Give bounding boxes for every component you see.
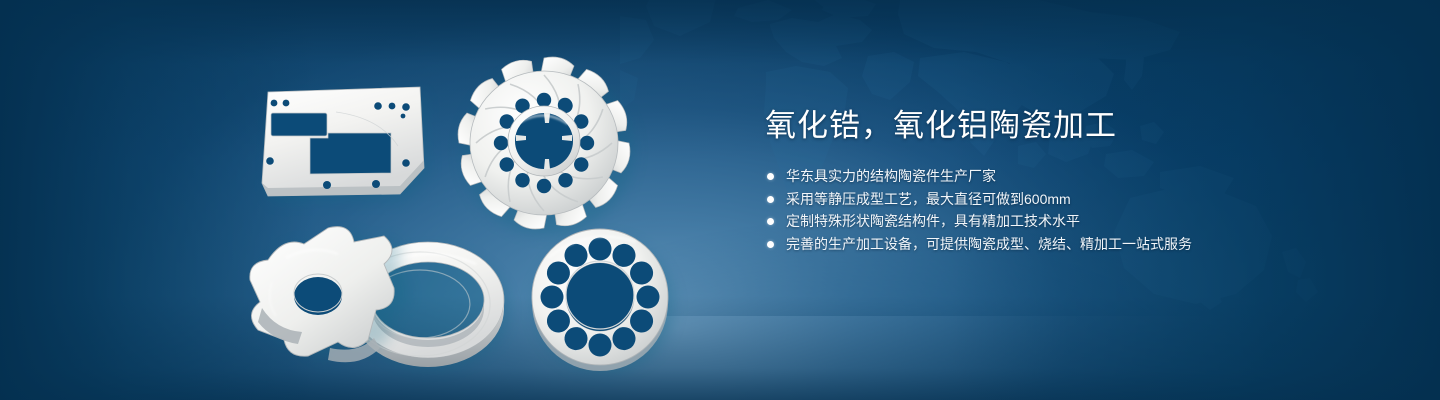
feature-item-1-label: 华东具实力的结构陶瓷件生产厂家 <box>786 168 996 184</box>
promo-banner: 氧化锆，氧化铝陶瓷加工 华东具实力的结构陶瓷件生产厂家 采用等静压成型工艺，最大… <box>0 0 1440 400</box>
feature-item-3-label: 定制特殊形状陶瓷结构件，具有精加工技术水平 <box>786 213 1080 229</box>
feature-item-1: 华东具实力的结构陶瓷件生产厂家 <box>765 165 1385 188</box>
banner-text-block: 氧化锆，氧化铝陶瓷加工 华东具实力的结构陶瓷件生产厂家 采用等静压成型工艺，最大… <box>765 104 1385 255</box>
feature-list: 华东具实力的结构陶瓷件生产厂家 采用等静压成型工艺，最大直径可做到600mm 定… <box>765 165 1385 255</box>
feature-item-2: 采用等静压成型工艺，最大直径可做到600mm <box>765 188 1385 211</box>
feature-item-4: 完善的生产加工设备，可提供陶瓷成型、烧结、精加工一站式服务 <box>765 233 1385 256</box>
bullet-dot-icon <box>767 241 774 248</box>
bullet-dot-icon <box>767 218 774 225</box>
feature-item-4-label: 完善的生产加工设备，可提供陶瓷成型、烧结、精加工一站式服务 <box>786 236 1192 252</box>
feature-item-3: 定制特殊形状陶瓷结构件，具有精加工技术水平 <box>765 210 1385 233</box>
banner-headline: 氧化锆，氧化铝陶瓷加工 <box>765 104 1385 148</box>
bullet-dot-icon <box>767 196 774 203</box>
bullet-dot-icon <box>767 173 774 180</box>
feature-item-2-label: 采用等静压成型工艺，最大直径可做到600mm <box>786 191 1071 207</box>
